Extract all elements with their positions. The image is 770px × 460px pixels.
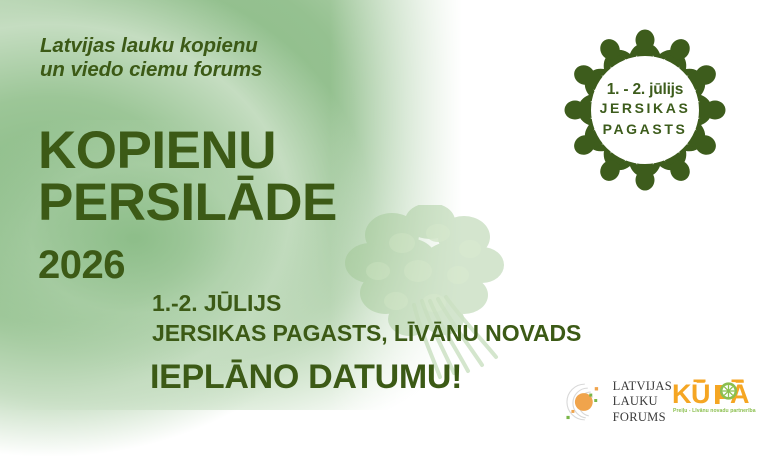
event-year: 2026 bbox=[38, 243, 125, 288]
poster-canvas: Latvijas lauku kopienu un viedo ciemu fo… bbox=[0, 0, 770, 460]
event-subtitle: Latvijas lauku kopienu un viedo ciemu fo… bbox=[40, 34, 440, 82]
event-subtitle-line1: Latvijas lauku kopienu bbox=[40, 34, 440, 58]
event-title-line2: PERSILĀDE bbox=[38, 177, 518, 229]
event-badge: 1. - 2. jūlijs JERSIKAS PAGASTS bbox=[553, 18, 737, 202]
people-circle-icon bbox=[553, 18, 737, 202]
logo-latvijas-lauku-forums[interactable]: LATVIJAS LAUKU FORUMS bbox=[562, 376, 672, 428]
event-subtitle-line2: un viedo ciemu forums bbox=[40, 58, 440, 82]
event-date: 1.-2. JŪLIJS bbox=[152, 290, 281, 317]
event-title: KOPIENU PERSILĀDE bbox=[38, 125, 518, 229]
event-title-line1: KOPIENU bbox=[38, 125, 518, 177]
svg-text:K: K bbox=[672, 379, 692, 408]
event-location: JERSIKAS PAGASTS, LĪVĀNU NOVADS bbox=[152, 320, 581, 347]
svg-text:Ū: Ū bbox=[691, 379, 711, 408]
llf-swirl-icon bbox=[562, 379, 608, 425]
llf-line3: FORUMS bbox=[613, 410, 672, 425]
llf-wordmark: LATVIJAS LAUKU FORUMS bbox=[613, 379, 672, 425]
kupa-tagline: Preiļu - Līvānu novadu partnerība bbox=[673, 408, 765, 414]
kupa-wordmark-icon: K Ū Ā bbox=[672, 378, 764, 408]
llf-line2: LAUKU bbox=[613, 394, 672, 409]
llf-line1: LATVIJAS bbox=[613, 379, 672, 394]
logo-kupa[interactable]: K Ū Ā Preiļu - Līvānu novadu partnerība bbox=[672, 378, 764, 426]
call-to-action-text: IEPLĀNO DATUMU! bbox=[150, 358, 462, 397]
